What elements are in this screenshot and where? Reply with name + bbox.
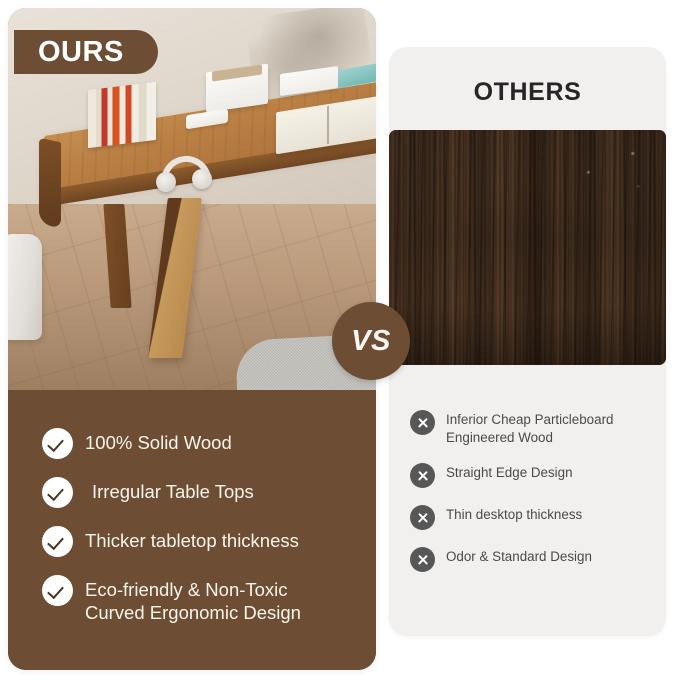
ours-badge: OURS: [14, 30, 158, 74]
others-drawback-label: Inferior Cheap Particleboard Engineered …: [446, 409, 613, 446]
x-icon: [410, 547, 435, 572]
others-title: OTHERS: [389, 78, 666, 107]
ours-feature-label: 100% Solid Wood: [85, 426, 232, 454]
list-item: Eco-friendly & Non-Toxic Curved Ergonomi…: [42, 573, 362, 624]
vs-badge: VS: [332, 302, 410, 380]
others-card: OTHERS Inferior Cheap Particleboard Engi…: [389, 47, 666, 636]
check-icon: [42, 575, 73, 606]
others-wood-texture-photo: [389, 130, 666, 365]
photo-books: [88, 82, 156, 148]
photo-trash-bin: [8, 234, 42, 340]
check-icon: [42, 428, 73, 459]
x-icon: [410, 505, 435, 530]
others-drawback-label: Odor & Standard Design: [446, 546, 592, 566]
check-icon: [42, 526, 73, 557]
x-icon: [410, 410, 435, 435]
list-item: Inferior Cheap Particleboard Engineered …: [410, 409, 662, 446]
ours-feature-label: Irregular Table Tops: [85, 475, 254, 503]
list-item: Straight Edge Design: [410, 462, 662, 488]
desk-live-edge: [39, 138, 61, 229]
check-icon: [42, 477, 73, 508]
x-icon: [410, 463, 435, 488]
headphone-earcup-right: [192, 169, 212, 189]
list-item: 100% Solid Wood: [42, 426, 362, 459]
ours-feature-list: 100% Solid Wood Irregular Table Tops Thi…: [42, 426, 362, 640]
ours-feature-panel: 100% Solid Wood Irregular Table Tops Thi…: [8, 390, 376, 670]
photo-headphones: [156, 156, 214, 190]
list-item: Odor & Standard Design: [410, 546, 662, 572]
others-drawback-label: Straight Edge Design: [446, 462, 573, 482]
comparison-infographic: OTHERS Inferior Cheap Particleboard Engi…: [0, 0, 679, 686]
ours-feature-label: Eco-friendly & Non-Toxic Curved Ergonomi…: [85, 573, 301, 624]
others-drawback-label: Thin desktop thickness: [446, 504, 582, 524]
list-item: Irregular Table Tops: [42, 475, 362, 508]
headphone-earcup-left: [156, 172, 176, 192]
list-item: Thicker tabletop thickness: [42, 524, 362, 557]
list-item: Thin desktop thickness: [410, 504, 662, 530]
ours-badge-label: OURS: [38, 38, 124, 67]
vs-label: VS: [351, 327, 391, 356]
ours-feature-label: Thicker tabletop thickness: [85, 524, 299, 552]
others-drawback-list: Inferior Cheap Particleboard Engineered …: [410, 409, 662, 588]
ours-card: OURS 100% Solid Wood Irregular Table Top…: [8, 8, 376, 670]
